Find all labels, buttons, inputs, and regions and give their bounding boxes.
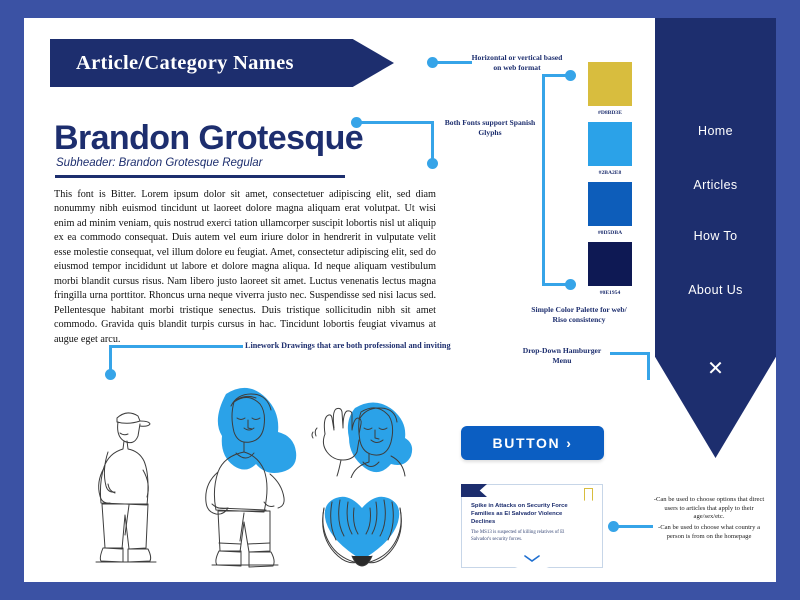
leader-line-hamburger-v — [647, 352, 650, 380]
cta-button[interactable]: BUTTON › — [461, 426, 604, 460]
annotation-linework: Linework Drawings that are both professi… — [245, 341, 495, 352]
heart-fill — [325, 497, 400, 560]
body-copy: This font is Bitter. Lorem ipsum dolor s… — [54, 188, 436, 347]
chevron-down-icon[interactable] — [524, 555, 540, 563]
annotation-banner: Horizontal or vertical based on web form… — [470, 53, 564, 73]
leader-dot-palette-bot — [565, 279, 576, 290]
illustration-hands-heart — [312, 488, 412, 568]
swatch-0 — [588, 62, 632, 106]
swatch-label-2: #0D5DBA — [580, 230, 640, 236]
annotation-dropdown-1: -Can be used to choose options that dire… — [650, 496, 768, 522]
swatch-1 — [588, 122, 632, 166]
hair-fill — [348, 402, 412, 472]
annotation-dropdown-2: -Can be used to choose what country a pe… — [650, 524, 768, 541]
divider-rule — [55, 175, 345, 178]
hair-fill — [218, 388, 296, 473]
illustration-waving-woman — [307, 398, 417, 478]
nav-item-articles[interactable]: Articles — [655, 178, 776, 192]
nav-item-about-us[interactable]: About Us — [655, 283, 776, 297]
leader-line-fonts-h — [360, 121, 434, 124]
close-icon[interactable]: ✕ — [655, 359, 776, 379]
artboard: Article/Category Names Horizontal or ver… — [24, 18, 776, 582]
leader-line-banner — [436, 61, 472, 64]
chevron-right-icon: › — [566, 435, 572, 451]
swatch-label-0: #D8BD3E — [580, 110, 640, 116]
leader-line-hamburger — [610, 352, 650, 355]
swatch-2 — [588, 182, 632, 226]
headline: Brandon Grotesque — [54, 119, 363, 158]
leader-line-palette-top — [542, 74, 570, 77]
leader-line-linework-h — [109, 345, 243, 348]
swatch-label-3: #0E1954 — [580, 290, 640, 296]
subheader: Subheader: Brandon Grotesque Regular — [56, 157, 263, 169]
nav-item-how-to[interactable]: How To — [655, 229, 776, 243]
annotation-palette: Simple Color Palette for web/ Riso consi… — [524, 305, 634, 325]
leader-line-palette-v — [542, 74, 545, 286]
card-body: The MS13 is suspected of killing relativ… — [471, 530, 581, 544]
cta-label: BUTTON — [493, 435, 561, 451]
leader-line-dropdown — [617, 525, 653, 528]
annotation-hamburger: Drop-Down Hamburger Menu — [521, 346, 603, 366]
card-title: Spike in Attacks on Security Force Famil… — [471, 502, 583, 526]
swatch-3 — [588, 242, 632, 286]
leader-line-linework-v — [109, 345, 112, 373]
category-banner: Article/Category Names — [50, 39, 394, 87]
swatch-label-1: #2BA2E8 — [580, 170, 640, 176]
banner-title: Article/Category Names — [50, 52, 294, 75]
nav-item-home[interactable]: Home — [655, 124, 776, 138]
leader-dot-fonts-end — [427, 158, 438, 169]
annotation-fonts: Both Fonts support Spanish Glyphs — [444, 118, 536, 138]
leader-line-fonts-v — [431, 121, 434, 163]
